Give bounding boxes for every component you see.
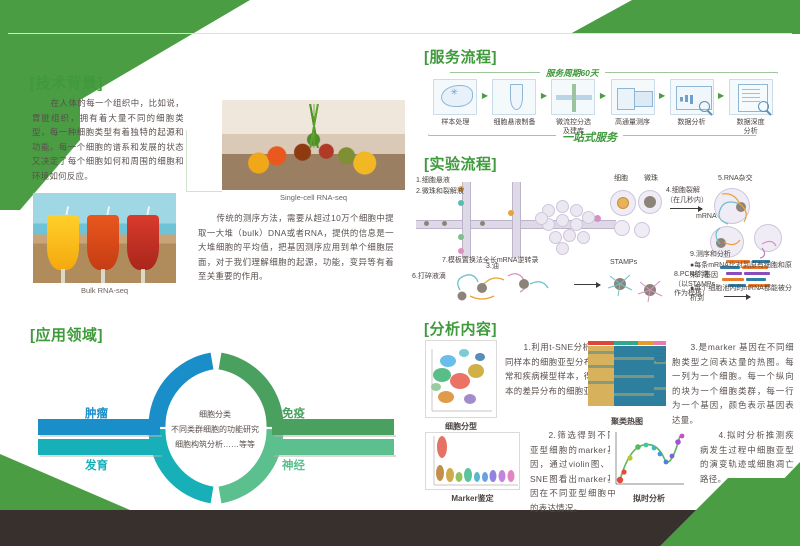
- tissue-icon: [433, 79, 477, 115]
- tech-background-paragraph-2: 传统的测序方法，需要从超过10万个细胞中提取一大堆（bulk）DNA或者RNA，…: [198, 211, 394, 284]
- droplet-teal-1: [458, 200, 464, 206]
- analysis-text-3-body: 是marker 基因在不同细胞类型之间表达量的热图。每一列为一个细胞。每一个纵向…: [672, 342, 794, 425]
- service-step-sample-processing[interactable]: 样本处理: [432, 79, 479, 127]
- analysis-text-4: 4.拟时分析推测疾病发生过程中细胞亚型的演变轨迹或细胞凋亡路径。: [700, 428, 794, 486]
- photo-single-cell-fruit: [222, 100, 405, 190]
- cell-droplet-small-2: [634, 222, 650, 238]
- caption-pseudotime-analysis: 拟时分析: [610, 493, 688, 504]
- tube-icon: [492, 79, 536, 115]
- analysis-text-2: 2.筛选得到不同亚型细胞的marker基因，通过violin图、t-SNE图看出…: [530, 428, 616, 516]
- poster-page: [技术背景] 在人体的每一个组织中，比如说，胃脏组织，拥有着大量不同的细胞类型，…: [0, 0, 800, 546]
- tech-background-paragraph-1-text: 在人体的每一个组织中，比如说，胃脏组织，拥有着大量不同的细胞类型，每一种细胞类型…: [32, 98, 184, 181]
- service-flow-steps: 样本处理 ▶ 细胞悬液制备 ▶ 微流控分选 及建库 ▶ 高通量测序 ▶ 数据分析…: [432, 79, 774, 136]
- flow-arrow-4: ▶: [659, 91, 665, 100]
- exp-label-step7: 7.模板置换法全长mRNA逆转录: [442, 256, 538, 266]
- chart-tsne-cell-typing: [425, 340, 497, 418]
- cell-droplet-small-1: [614, 220, 630, 236]
- decoration-top-right-green: [570, 0, 800, 34]
- analysis-text-4-number: 4.: [718, 430, 726, 440]
- service-step-label-4: 高通量测序: [609, 118, 656, 127]
- tech-background-paragraph-1: 在人体的每一个组织中，比如说，胃脏组织，拥有着大量不同的细胞类型，每一种细胞类型…: [32, 96, 184, 184]
- magnifier-icon-1: [699, 101, 710, 112]
- domain-label-development: 发育: [85, 457, 108, 473]
- photo-bulk-drinks: [33, 193, 176, 283]
- exp-label-cell: 细胞: [614, 174, 628, 184]
- flow-arrow-2: ▶: [541, 91, 547, 100]
- glass-1: [47, 215, 78, 271]
- section-title-experiment-flow: [实验流程]: [424, 153, 497, 174]
- trajectory-svg: [610, 428, 688, 490]
- section-title-tech-background: [技术背景]: [30, 72, 103, 93]
- service-flow-top-label: 服务周期60天: [540, 67, 605, 79]
- flow-arrow-5: ▶: [718, 91, 724, 100]
- analysis-text-2-number: 2.: [548, 430, 556, 440]
- section-title-service-flow: [服务流程]: [424, 46, 497, 67]
- service-step-label-1: 样本处理: [432, 118, 479, 127]
- domain-center-line-3: 细胞构筑分析……等等: [145, 437, 285, 452]
- exp-label-step6: 6.打碎液滴: [412, 272, 446, 282]
- analysis-text-4-body: 拟时分析推测疾病发生过程中细胞亚型的演变轨迹或细胞凋亡路径。: [700, 430, 794, 484]
- exp-label-step2: 2.微珠和裂解液: [416, 187, 464, 197]
- domain-label-neuroscience: 神经: [282, 457, 305, 473]
- microfluidic-chip-icon: [551, 79, 595, 115]
- service-step-label-6: 数据深度 分析: [727, 118, 774, 136]
- service-step-data-analysis[interactable]: 数据分析: [668, 79, 715, 127]
- domain-label-tumor: 肿瘤: [85, 405, 108, 421]
- glass-2: [87, 215, 118, 271]
- service-step-microfluidic[interactable]: 微流控分选 及建库: [550, 79, 597, 136]
- report-magnifier-icon: [729, 79, 773, 115]
- application-domain-diagram: 肿瘤 免疫 发育 神经 细胞分类 不同类群细胞的功能研究 细胞构筑分析……等等: [20, 345, 405, 510]
- tsne-scatter-svg: [426, 341, 497, 418]
- violin-plot-svg: [426, 433, 520, 490]
- heatmap-svg: [588, 341, 666, 413]
- exp-label-step9: 9.测序和分析: [690, 250, 794, 260]
- cell-nucleus-1: [617, 197, 629, 209]
- domain-center-text: 细胞分类 不同类群细胞的功能研究 细胞构筑分析……等等: [145, 407, 285, 452]
- magnifier-icon-2: [758, 101, 769, 112]
- service-step-deep-analysis[interactable]: 数据深度 分析: [727, 79, 774, 136]
- bead-channel-2: [442, 221, 447, 226]
- fruit-leaf-decoration: [303, 104, 325, 148]
- domain-center-line-2: 不同类群细胞的功能研究: [145, 422, 285, 437]
- glass-3: [127, 215, 158, 271]
- service-step-label-3: 微流控分选 及建库: [550, 118, 597, 136]
- divider-top-hairline: [8, 33, 792, 34]
- connector-line-tech: [186, 130, 222, 192]
- domain-label-immunity: 免疫: [282, 405, 305, 421]
- exp-label-bead: 微珠: [644, 174, 658, 184]
- caption-marker-identification: Marker鉴定: [425, 493, 520, 504]
- analysis-text-2-body: 筛选得到不同亚型细胞的marker基因，通过violin图、t-SNE图看出ma…: [530, 430, 616, 513]
- sequencer-icon: [611, 79, 655, 115]
- caption-bulk: Bulk RNA-seq: [33, 286, 176, 295]
- droplet-orange-2: [508, 210, 514, 216]
- flow-arrow-1: ▶: [482, 91, 488, 100]
- exp-arrow-lysis: [670, 208, 702, 209]
- droplet-pink-out: [594, 215, 601, 222]
- bar-chart-magnifier-icon: [670, 79, 714, 115]
- caption-single-cell: Single-cell RNA-seq: [222, 193, 405, 202]
- flow-arrow-3: ▶: [600, 91, 606, 100]
- caption-cluster-heatmap: 聚类热图: [588, 416, 666, 427]
- broken-droplets-svg: [452, 266, 572, 306]
- analysis-text-3-number: 3.: [690, 342, 698, 352]
- service-step-label-2: 细胞悬液制备: [491, 118, 538, 127]
- service-step-cell-suspension[interactable]: 细胞悬液制备: [491, 79, 538, 127]
- section-title-application-domain: [应用领域]: [30, 324, 103, 345]
- service-step-sequencing[interactable]: 高通量测序: [609, 79, 656, 127]
- channel-vertical-2: [512, 182, 521, 258]
- chart-trajectory-pseudotime: [610, 428, 688, 490]
- droplet-green-1: [458, 234, 464, 240]
- exp-label-bullet-1: ●每条mRNA比对到原有细胞和原来的基因: [690, 261, 796, 280]
- exp-label-stamps: STAMPs: [610, 258, 637, 268]
- caption-cell-typing: 细胞分型: [425, 421, 497, 432]
- exp-label-step5: 5.RNA杂交: [718, 174, 753, 184]
- exp-arrow-stamps: [574, 284, 600, 285]
- section-title-analysis-content: [分析内容]: [424, 318, 497, 339]
- chart-cluster-heatmap: [588, 341, 666, 413]
- droplet-pink-1: [458, 248, 464, 254]
- analysis-text-1-number: 1.: [523, 342, 531, 352]
- bead-channel-3: [480, 221, 485, 226]
- stamps-beads-svg: [602, 268, 672, 306]
- exp-label-bullet-2: ●每个细胞池内的mRNA都能被分析到: [690, 284, 796, 303]
- domain-center-line-1: 细胞分类: [145, 407, 285, 422]
- bead-channel-1: [424, 221, 429, 226]
- exp-label-step1: 1.细胞悬液: [416, 176, 450, 186]
- tech-background-paragraph-2-text: 传统的测序方法，需要从超过10万个细胞中提取一大堆（bulk）DNA或者RNA，…: [198, 213, 394, 281]
- chart-violin-marker: [425, 432, 520, 490]
- bead-1: [644, 196, 656, 208]
- service-step-label-5: 数据分析: [668, 118, 715, 127]
- analysis-text-3: 3.是marker 基因在不同细胞类型之间表达量的热图。每一列为一个细胞。每一个…: [672, 340, 794, 428]
- exp-label-step4: 4.细胞裂解 （在几秒内）: [666, 186, 708, 205]
